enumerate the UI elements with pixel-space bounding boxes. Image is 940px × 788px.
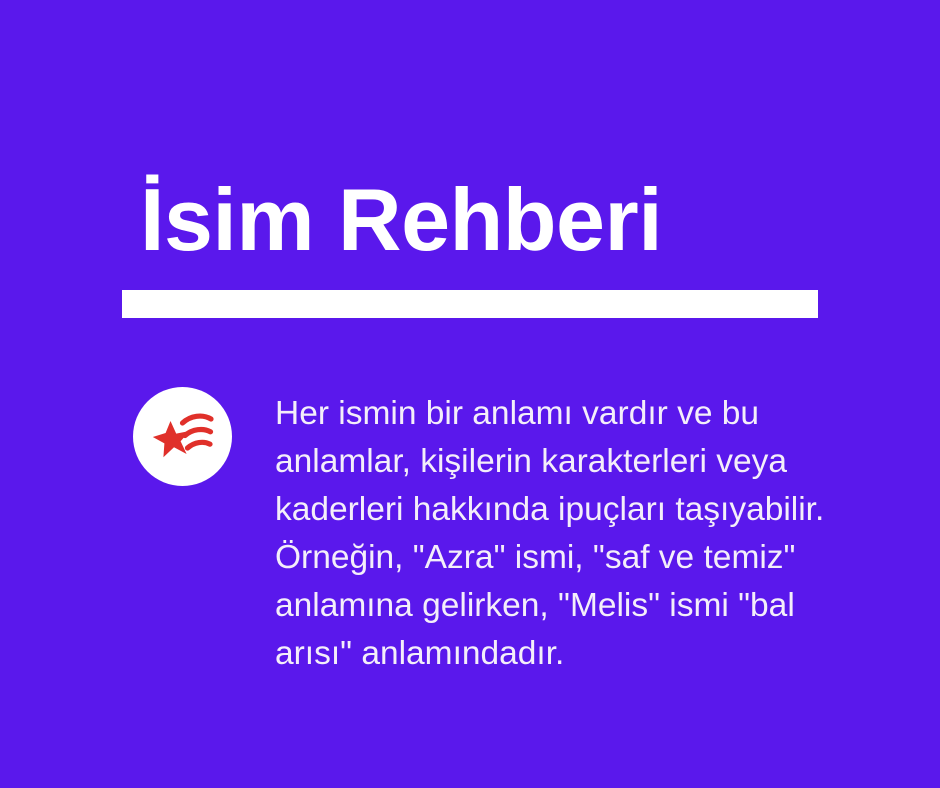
- poster-canvas: İsim Rehberi Her ismin bir anlamı vardır…: [0, 0, 940, 788]
- icon-badge: [133, 387, 232, 486]
- body-block: Her ismin bir anlamı vardır ve bu anlaml…: [133, 387, 833, 678]
- title-underline-bar: [122, 290, 818, 318]
- shooting-star-icon: [152, 409, 214, 465]
- page-title: İsim Rehberi: [122, 176, 822, 264]
- title-block: İsim Rehberi: [122, 176, 822, 318]
- body-paragraph: Her ismin bir anlamı vardır ve bu anlaml…: [232, 387, 833, 678]
